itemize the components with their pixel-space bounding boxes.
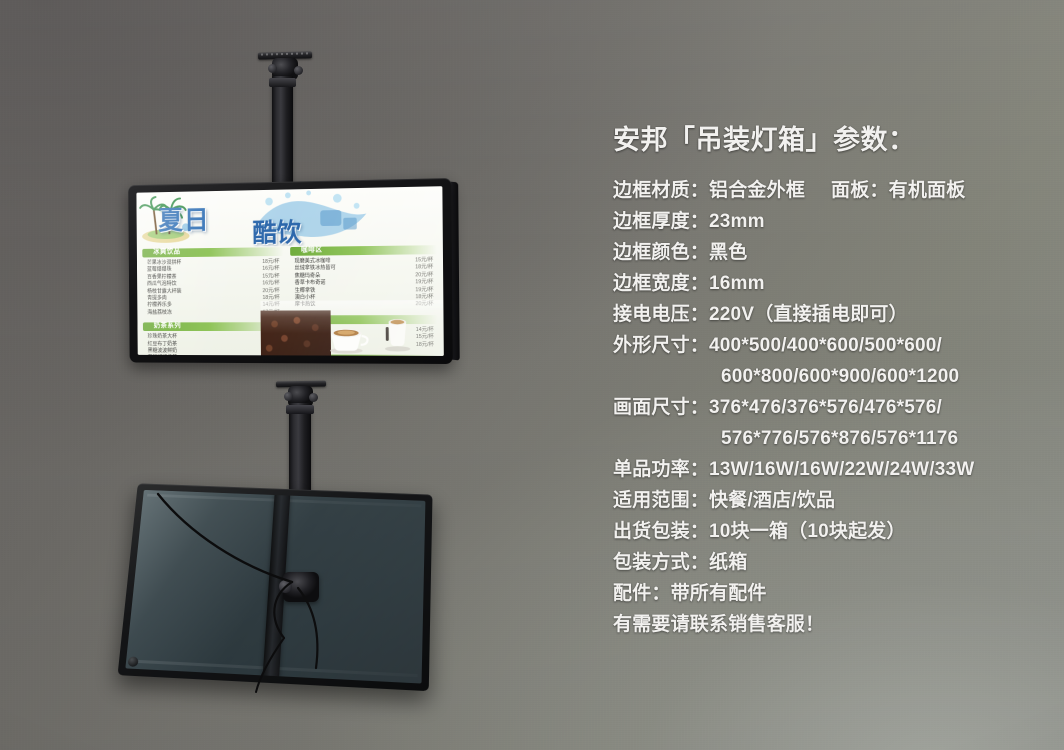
menu-item-name: 珍珠奶茶大杯	[148, 334, 177, 341]
product-spec-image: 夏日 酷饮 冰爽饮品芒果冰沙双拼杯18元/杯蓝莓爆爆珠16元/杯百香果柠檬茶15…	[0, 0, 1064, 750]
menu-section-label: 咖啡区	[301, 246, 322, 256]
spec-row: 边框材质：铝合金外框面板：有机面板	[613, 175, 1043, 206]
spec-row: 出货包装：10块一箱（10块起发）	[613, 516, 1043, 547]
specification-panel: 安邦「吊装灯箱」参数： 边框材质：铝合金外框面板：有机面板边框厚度：23mm边框…	[613, 124, 1043, 640]
aluminium-frame: 夏日 酷饮 冰爽饮品芒果冰沙双拼杯18元/杯蓝莓爆爆珠16元/杯百香果柠檬茶15…	[128, 178, 453, 364]
spec-row: 接电电压：220V（直接插电即可）	[613, 299, 1043, 330]
spec-footer-note: 有需要请联系销售客服！	[613, 609, 1043, 640]
lightbox-front-unit: 夏日 酷饮 冰爽饮品芒果冰沙双拼杯18元/杯蓝莓爆爆珠16元/杯百香果柠檬茶15…	[128, 178, 453, 364]
menu-item-name: 柠檬养乐多	[147, 303, 172, 310]
menu-item-name: 芋泥啵啵奶茶	[148, 355, 177, 356]
pole-collar-lower	[286, 405, 314, 414]
lightbox-rear-unit	[118, 483, 433, 691]
spec-row-continuation: 576*776/576*876/576*1176	[613, 423, 1043, 454]
spec-row-continuation: 600*800/600*900/600*1200	[613, 361, 1043, 392]
swivel-bolt-icon	[294, 66, 303, 75]
spec-row: 适用范围：快餐/酒店/饮品	[613, 485, 1043, 516]
menu-item-price: 19元/杯	[415, 287, 433, 294]
menu-poster: 夏日 酷饮 冰爽饮品芒果冰沙双拼杯18元/杯蓝莓爆爆珠16元/杯百香果柠檬茶15…	[136, 186, 443, 356]
menu-item-name: 海盐荔枝冻	[147, 310, 172, 317]
menu-section-label: 冰爽饮品	[153, 247, 180, 257]
swivel-bolt-icon	[284, 392, 293, 401]
spec-row: 边框宽度：16mm	[613, 268, 1043, 299]
spec-row: 外形尺寸：400*500/400*600/500*600/	[613, 330, 1043, 361]
poster-headline-secondary: 酷饮	[252, 213, 301, 248]
spec-row: 画面尺寸：376*476/376*576/476*576/	[613, 392, 1043, 423]
coffee-photo-strip	[260, 300, 443, 356]
spec-rows: 边框材质：铝合金外框面板：有机面板边框厚度：23mm边框颜色：黑色边框宽度：16…	[613, 175, 1043, 609]
spec-row: 边框厚度：23mm	[613, 206, 1043, 237]
acrylic-panel: 夏日 酷饮 冰爽饮品芒果冰沙双拼杯18元/杯蓝莓爆爆珠16元/杯百香果柠檬茶15…	[136, 186, 443, 356]
spec-row: 包装方式：纸箱	[613, 547, 1043, 578]
photo-highlight	[260, 300, 443, 356]
poster-headline-primary: 夏日	[158, 199, 210, 237]
pole-collar-upper	[269, 78, 296, 87]
spec-row: 配件：带所有配件	[613, 578, 1043, 609]
rear-sheen	[125, 490, 425, 684]
rear-backplate	[125, 490, 425, 684]
mount-pole-upper	[272, 76, 293, 184]
poster-header: 夏日 酷饮	[136, 186, 442, 248]
aluminium-frame-rear	[118, 483, 433, 691]
menu-section-header: 咖啡区	[290, 245, 437, 256]
menu-section-label: 奶茶系列	[154, 322, 181, 332]
swivel-bolt-icon	[268, 64, 277, 73]
swivel-bolt-icon	[309, 393, 318, 402]
hub-bolt-icon	[279, 580, 292, 593]
menu-item-price: 19元/杯	[415, 279, 433, 287]
menu-item-price: 16元/杯	[262, 281, 279, 288]
spec-title: 安邦「吊装灯箱」参数：	[613, 124, 1043, 156]
spec-row: 边框颜色：黑色	[613, 237, 1043, 268]
menu-item-row: 芋泥啵啵奶茶18元/杯	[143, 355, 284, 356]
menu-section-header: 冰爽饮品	[142, 247, 283, 257]
spec-row: 单品功率：13W/16W/16W/22W/24W/33W	[613, 454, 1043, 485]
